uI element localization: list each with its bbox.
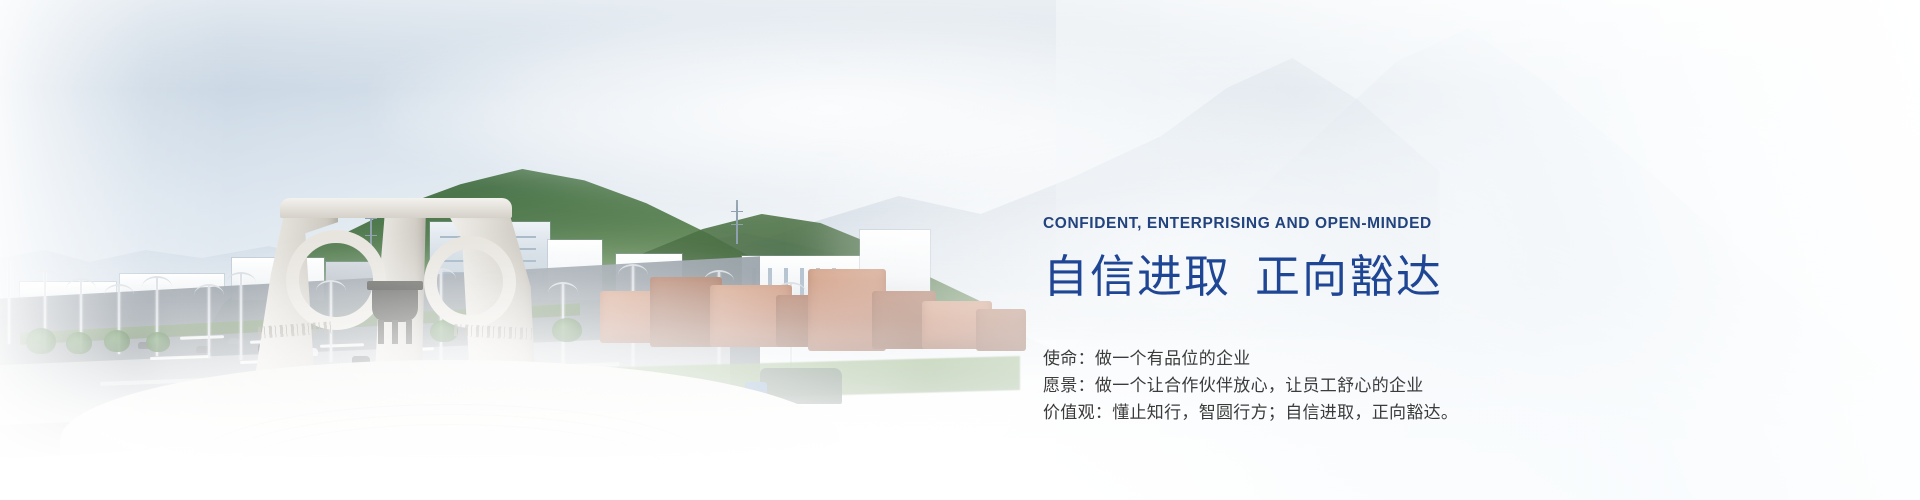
ding-leg <box>406 320 412 344</box>
headline-phrase-right: 正向豁达 <box>1255 251 1443 302</box>
statement-vision: 愿景：做一个让合作伙伴放心，让员工舒心的企业 <box>1043 372 1743 399</box>
street-lamp <box>240 274 242 360</box>
transmission-tower-right <box>736 200 738 244</box>
monument-arch-ring-right <box>424 236 516 328</box>
headline-phrase-left: 自信进取 <box>1043 251 1231 302</box>
monument-lintel <box>280 198 512 218</box>
tree <box>104 330 130 352</box>
banner-headline: 自信进取正向豁达 <box>1043 254 1743 299</box>
statement-values: 价值观：懂止知行，智圆行方；自信进取，正向豁达。 <box>1043 399 1743 426</box>
monument-arch-ring-left <box>286 230 386 330</box>
banner-text-block: CONFIDENT, ENTERPRISING AND OPEN-MINDED … <box>1043 216 1743 426</box>
street-lamp <box>8 260 10 344</box>
rock <box>976 309 1026 351</box>
banner-eyebrow-english: CONFIDENT, ENTERPRISING AND OPEN-MINDED <box>1043 216 1743 232</box>
ding-leg <box>378 320 384 344</box>
tree <box>26 328 56 354</box>
tree <box>66 332 92 354</box>
banner-statement-list: 使命：做一个有品位的企业 愿景：做一个让合作伙伴放心，让员工舒心的企业 价值观：… <box>1043 345 1743 426</box>
tree <box>146 332 170 352</box>
hero-banner: CONFIDENT, ENTERPRISING AND OPEN-MINDED … <box>0 0 1920 500</box>
ding-leg <box>392 320 398 344</box>
tree <box>552 318 582 342</box>
statement-mission: 使命：做一个有品位的企业 <box>1043 345 1743 372</box>
vehicle <box>228 338 240 344</box>
street-lamp <box>208 286 210 358</box>
bronze-ding-vessel <box>372 288 418 322</box>
